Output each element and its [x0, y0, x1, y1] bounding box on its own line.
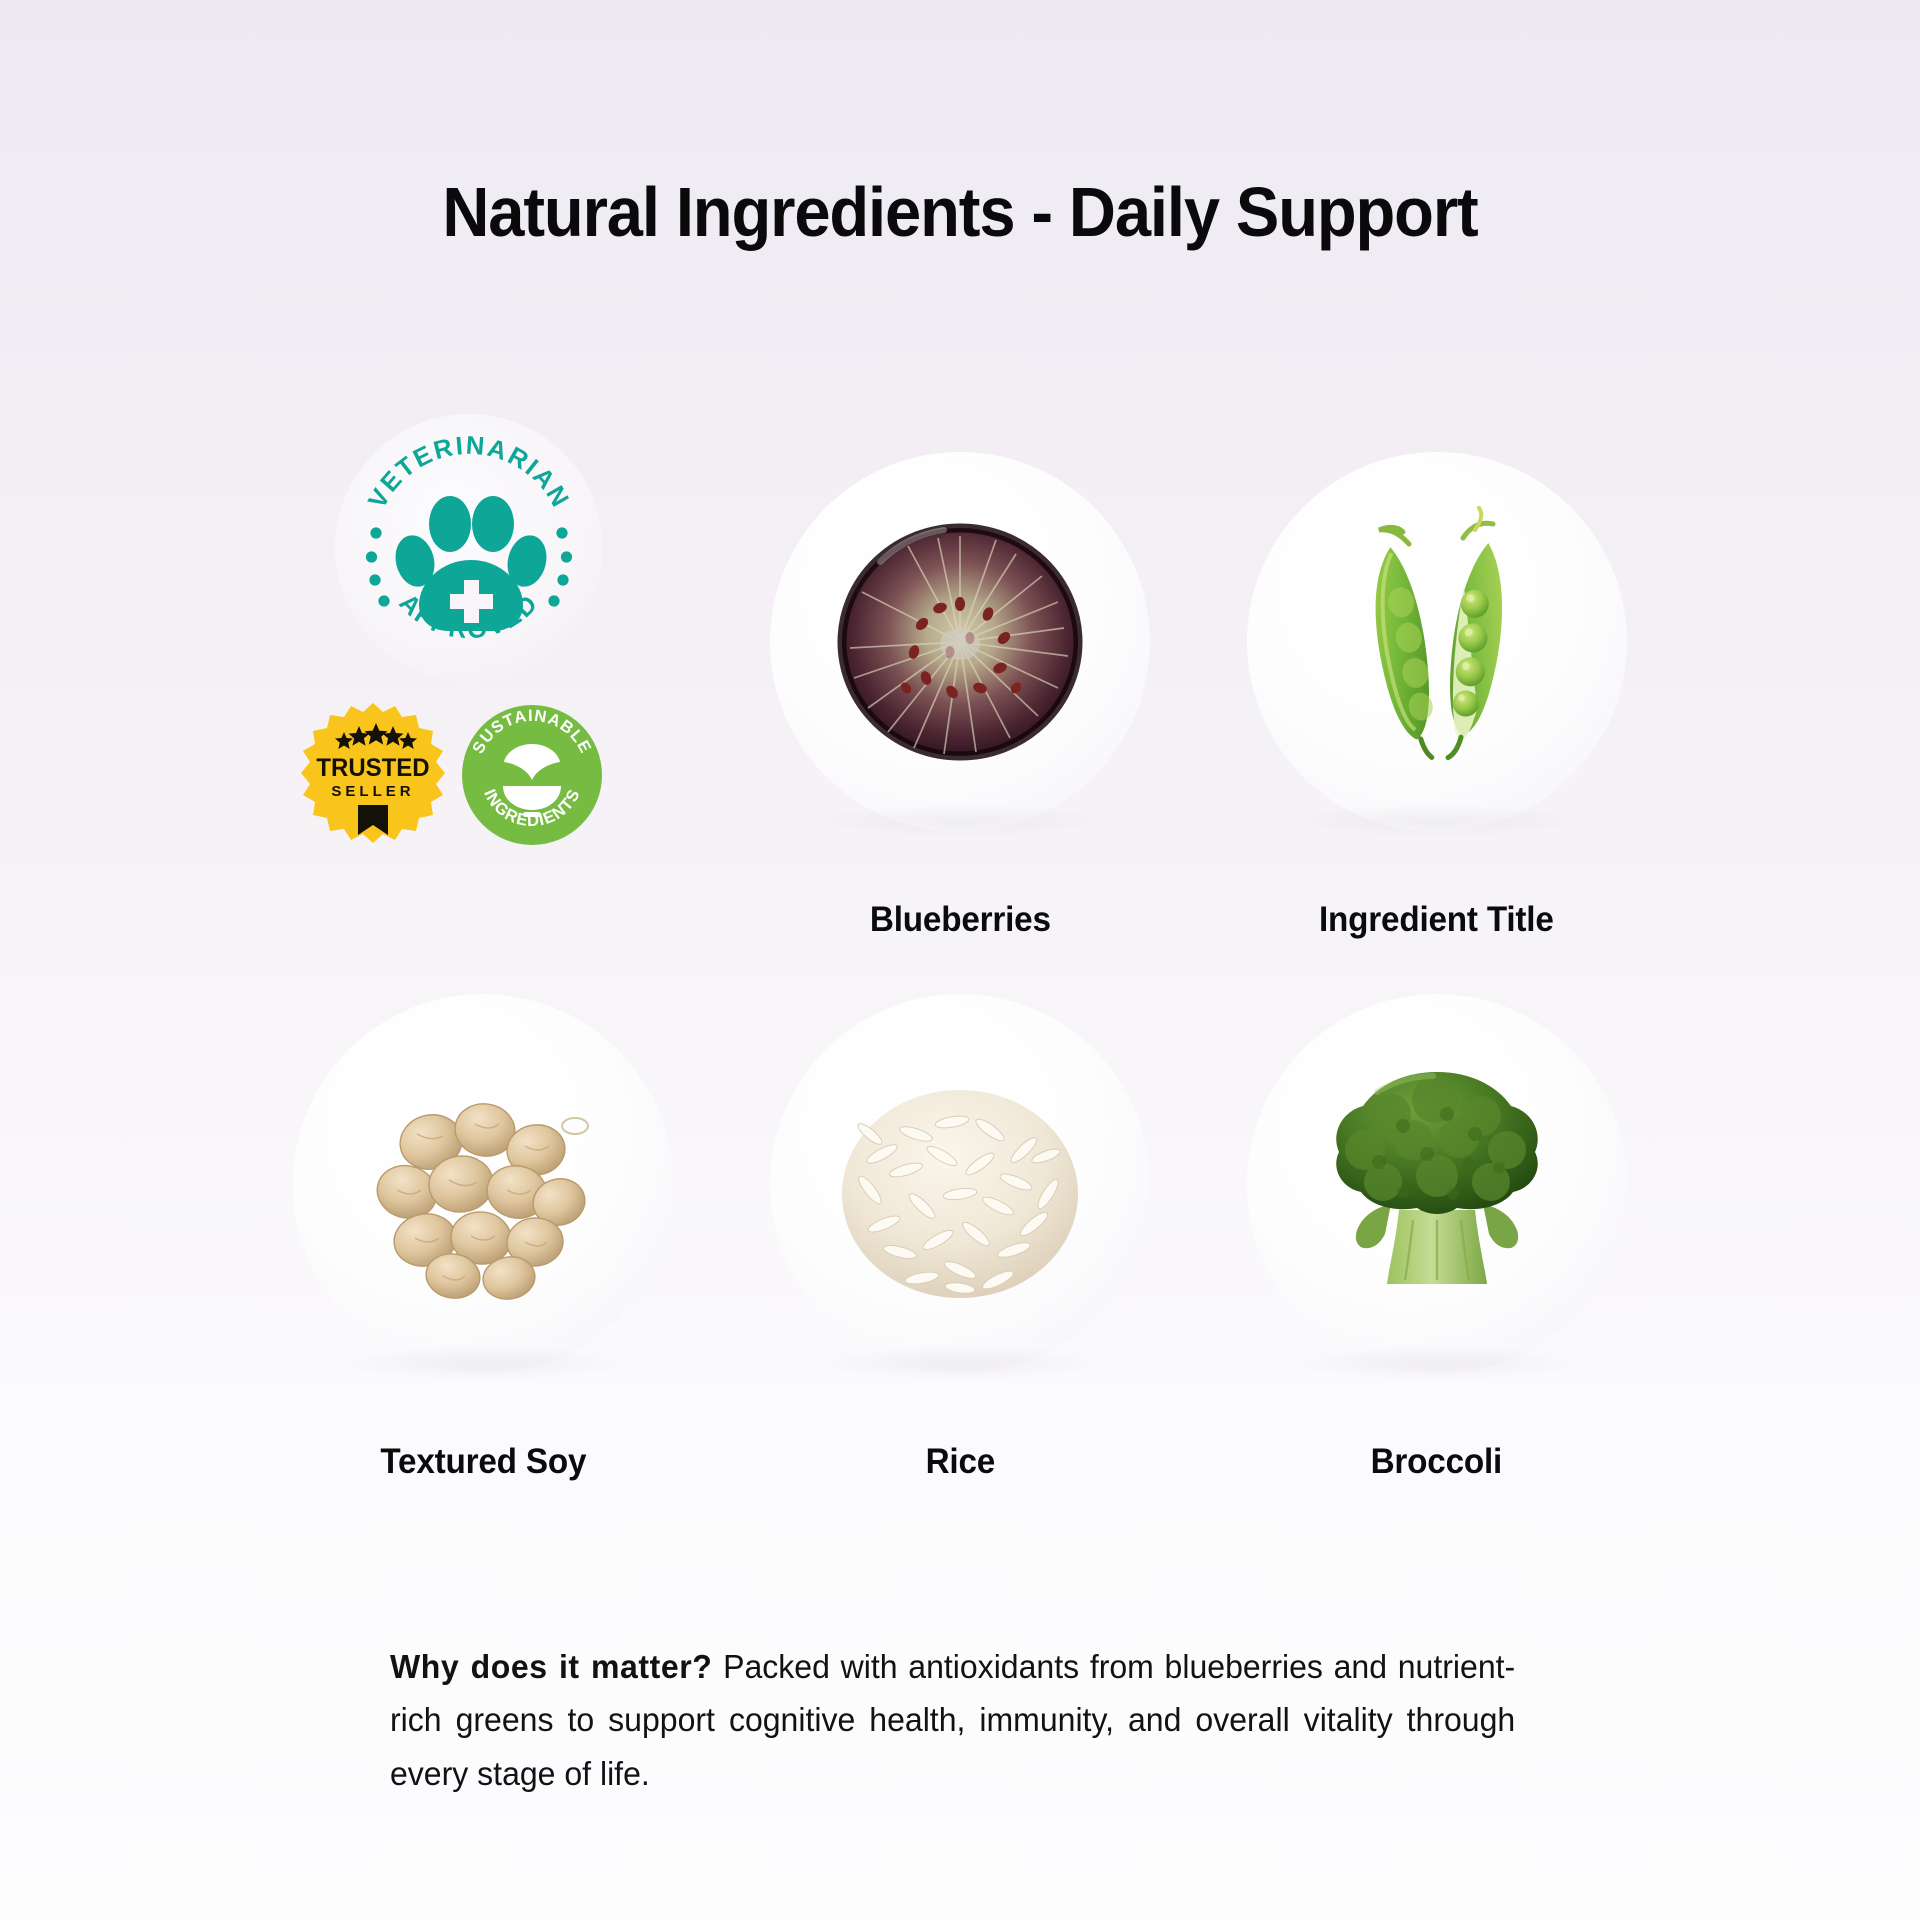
ingredient-label: Broccoli	[1210, 1442, 1663, 1482]
svg-text:SELLER: SELLER	[332, 783, 415, 800]
sustainable-ingredients-badge: SUSTAINABLE INGREDIENTS	[461, 704, 603, 846]
ingredients-infographic: Natural Ingredients - Daily Support VETE…	[0, 0, 1920, 1920]
pea-pods-image	[1287, 492, 1587, 792]
veterinarian-approved-icon: VETERINARIAN APPROVED	[335, 414, 603, 682]
ingredient-label: Ingredient Title	[1210, 900, 1663, 940]
trusted-seller-icon: TRUSTED SELLER	[299, 701, 447, 849]
ingredient-tile	[1247, 994, 1627, 1374]
ingredient-cell-rice: Rice	[722, 994, 1199, 1414]
white-rice-grains-image	[810, 1034, 1110, 1334]
ingredient-label: Rice	[734, 1442, 1187, 1482]
broccoli-floret-image	[1287, 1034, 1587, 1334]
textured-soy-chunks-image	[333, 1034, 633, 1334]
why-it-matters-paragraph: Why does it matter? Packed with antioxid…	[390, 1640, 1515, 1800]
trust-badge-cluster: VETERINARIAN APPROVED	[245, 452, 722, 872]
ingredient-cell-textured-soy: Textured Soy	[245, 994, 722, 1414]
svg-text:TRUSTED: TRUSTED	[317, 755, 430, 783]
ingredient-label: Blueberries	[734, 900, 1187, 940]
ingredient-cell-blueberries: Blueberries	[722, 452, 1199, 872]
ingredient-tile	[293, 994, 673, 1374]
secondary-badges-row: TRUSTED SELLER	[299, 700, 669, 850]
page-title: Natural Ingredients - Daily Support	[67, 176, 1853, 250]
ingredient-grid: VETERINARIAN APPROVED	[245, 452, 1675, 1414]
sustainable-ingredients-icon: SUSTAINABLE INGREDIENTS	[461, 704, 603, 846]
trusted-seller-badge: TRUSTED SELLER	[299, 701, 447, 849]
fig-cross-section-image	[810, 492, 1110, 792]
paragraph-lead: Why does it matter?	[390, 1648, 712, 1685]
ingredient-cell-pea-pods: Ingredient Title	[1198, 452, 1675, 872]
ingredient-tile	[770, 452, 1150, 832]
ingredient-label: Textured Soy	[257, 1442, 710, 1482]
ingredient-cell-broccoli: Broccoli	[1198, 994, 1675, 1414]
ingredient-tile	[1247, 452, 1627, 832]
veterinarian-approved-badge: VETERINARIAN APPROVED	[335, 414, 603, 682]
ingredient-tile	[770, 994, 1150, 1374]
svg-text:VETERINARIAN: VETERINARIAN	[364, 432, 576, 514]
